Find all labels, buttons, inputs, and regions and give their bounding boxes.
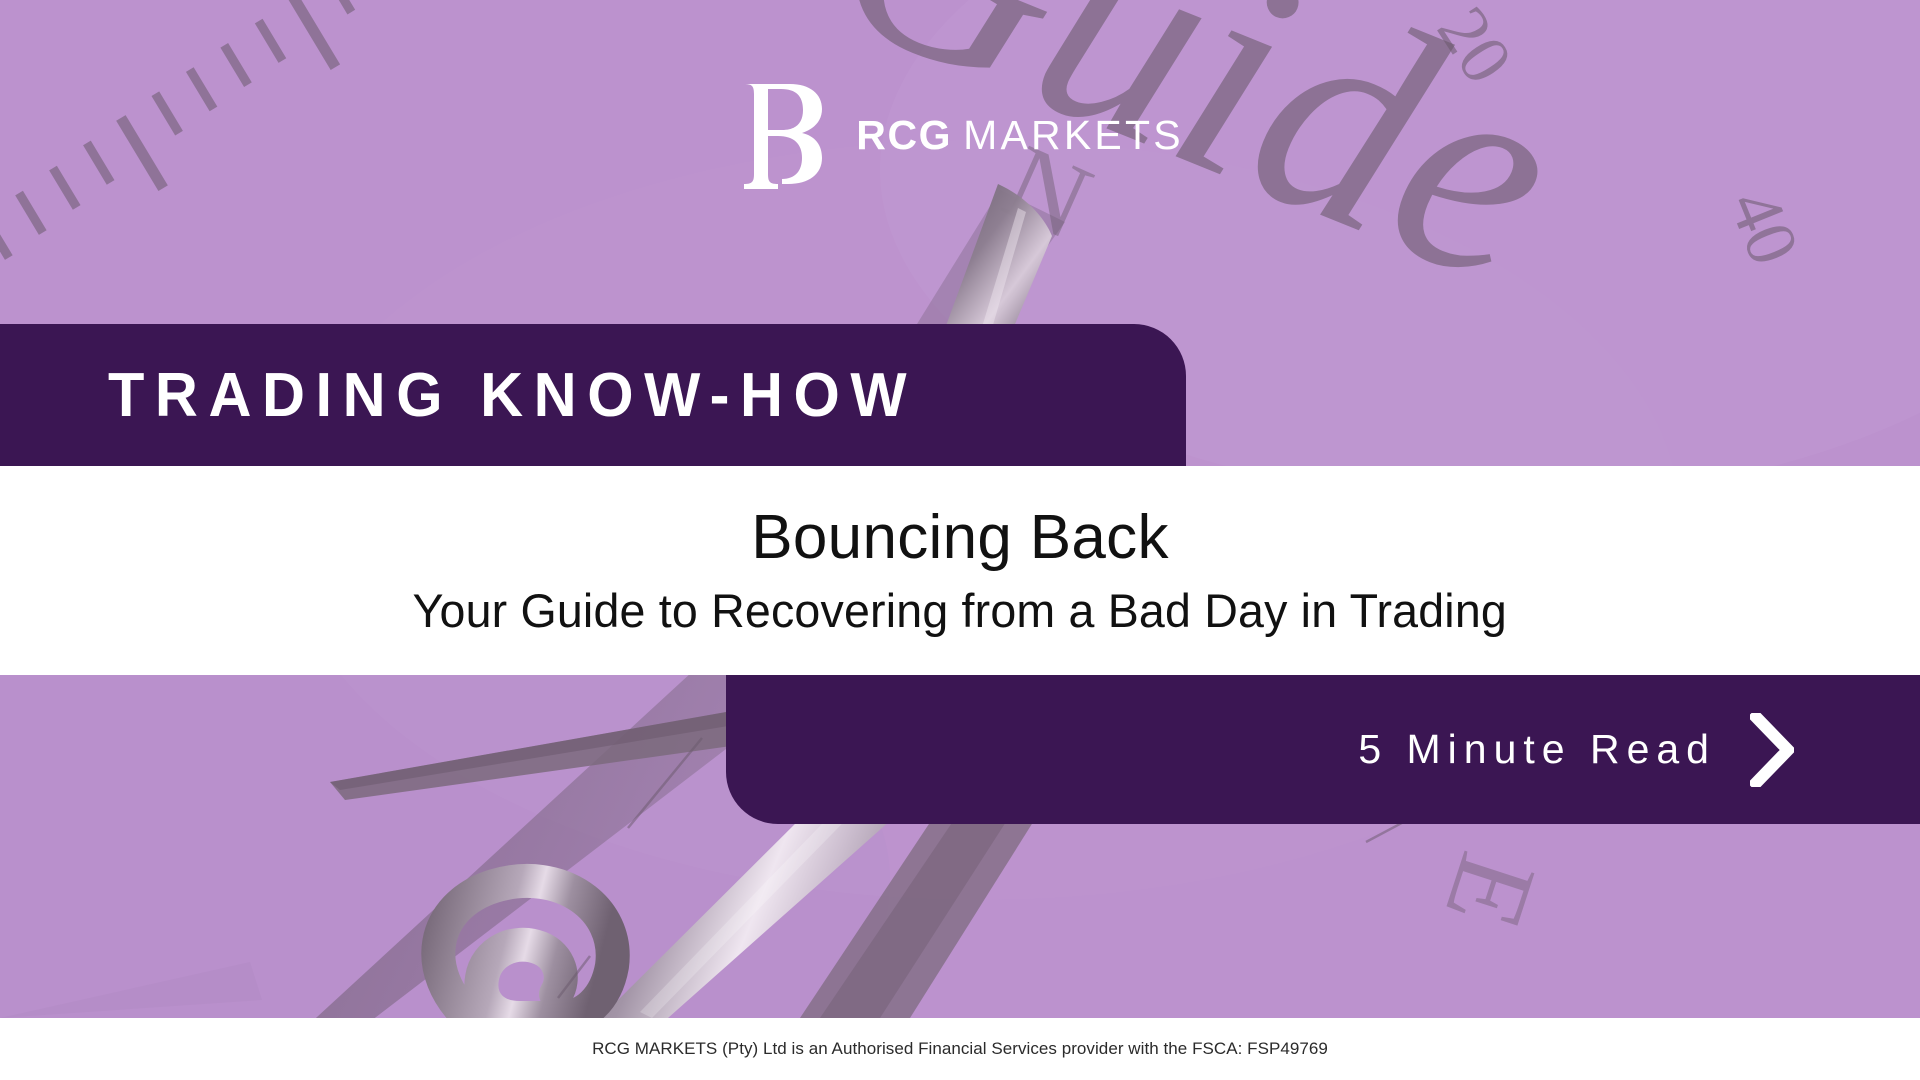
brand-wordmark: RCG MARKETS [856,112,1184,159]
category-label: TRADING KNOW-HOW [108,360,917,431]
brand-name-bold: RCG [856,112,952,159]
chevron-right-icon [1750,713,1794,787]
regulatory-disclaimer: RCG MARKETS (Pty) Ltd is an Authorised F… [592,1039,1328,1059]
read-time-cta[interactable]: 5 Minute Read [726,675,1920,824]
brand-logo[interactable]: RCG MARKETS [0,70,1920,200]
page-subtitle: Your Guide to Recovering from a Bad Day … [413,585,1507,637]
read-time-label: 5 Minute Read [1358,726,1716,773]
category-banner: TRADING KNOW-HOW [0,324,1186,466]
title-section: Bouncing Back Your Guide to Recovering f… [0,466,1920,675]
brand-name-light: MARKETS [963,112,1184,159]
rcg-monogram-icon [736,78,832,196]
footer: RCG MARKETS (Pty) Ltd is an Authorised F… [0,1018,1920,1080]
page-title: Bouncing Back [751,505,1169,570]
promo-card: Guide N E [0,0,1920,1080]
